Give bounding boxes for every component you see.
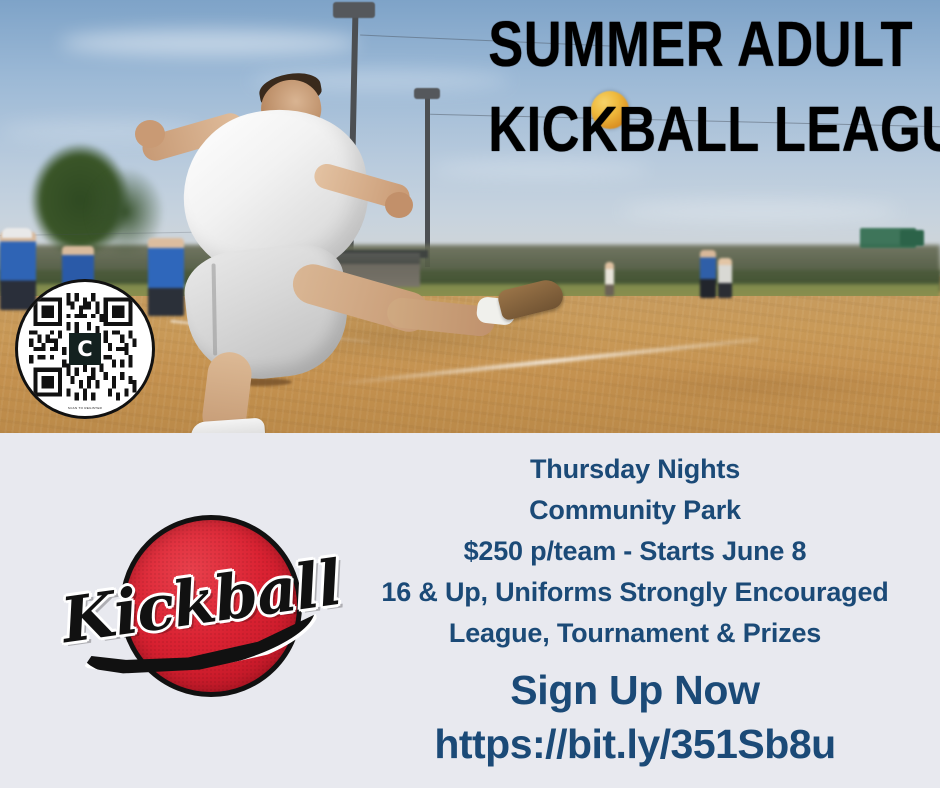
qr-code[interactable]: C SCAN TO REGISTER	[18, 282, 152, 416]
highway-sign	[900, 230, 924, 246]
headline-line-2: KICKBALL LEAGUE	[488, 99, 873, 160]
info-panel: Kickball Thursday Nights Community Park …	[0, 433, 940, 788]
fielder	[700, 250, 716, 298]
detail-line: 16 & Up, Uniforms Strongly Encouraged	[330, 572, 940, 613]
detail-line: League, Tournament & Prizes	[330, 613, 940, 654]
detail-line: Community Park	[330, 490, 940, 531]
detail-line: $250 p/team - Starts June 8	[330, 531, 940, 572]
light-pole-fixture	[333, 2, 375, 18]
signup-heading: Sign Up Now	[330, 663, 940, 717]
fielder	[718, 258, 732, 298]
page-title: SUMMER ADULT KICKBALL LEAGUE	[446, 14, 916, 161]
cloud	[60, 30, 360, 56]
player-hand	[135, 120, 165, 148]
kickball-league-flyer: SUMMER ADULT KICKBALL LEAGUE	[0, 0, 940, 788]
spectator-cap	[2, 228, 32, 238]
signup-url[interactable]: https://bit.ly/351Sb8u	[330, 717, 940, 771]
event-details: Thursday Nights Community Park $250 p/te…	[330, 449, 940, 654]
qr-ring-text: SCAN TO REGISTER	[18, 406, 152, 410]
spectator	[0, 232, 36, 310]
player-hand	[385, 192, 413, 218]
kickball-logo: Kickball	[80, 509, 320, 709]
player-shoe	[190, 417, 266, 433]
qr-center-logo: C	[69, 333, 101, 365]
call-to-action: Sign Up Now https://bit.ly/351Sb8u	[330, 663, 940, 771]
cloud	[620, 200, 900, 222]
headline-line-1: SUMMER ADULT	[488, 14, 873, 75]
fielder	[605, 262, 614, 296]
detail-line: Thursday Nights	[330, 449, 940, 490]
player-shorts	[181, 240, 354, 386]
